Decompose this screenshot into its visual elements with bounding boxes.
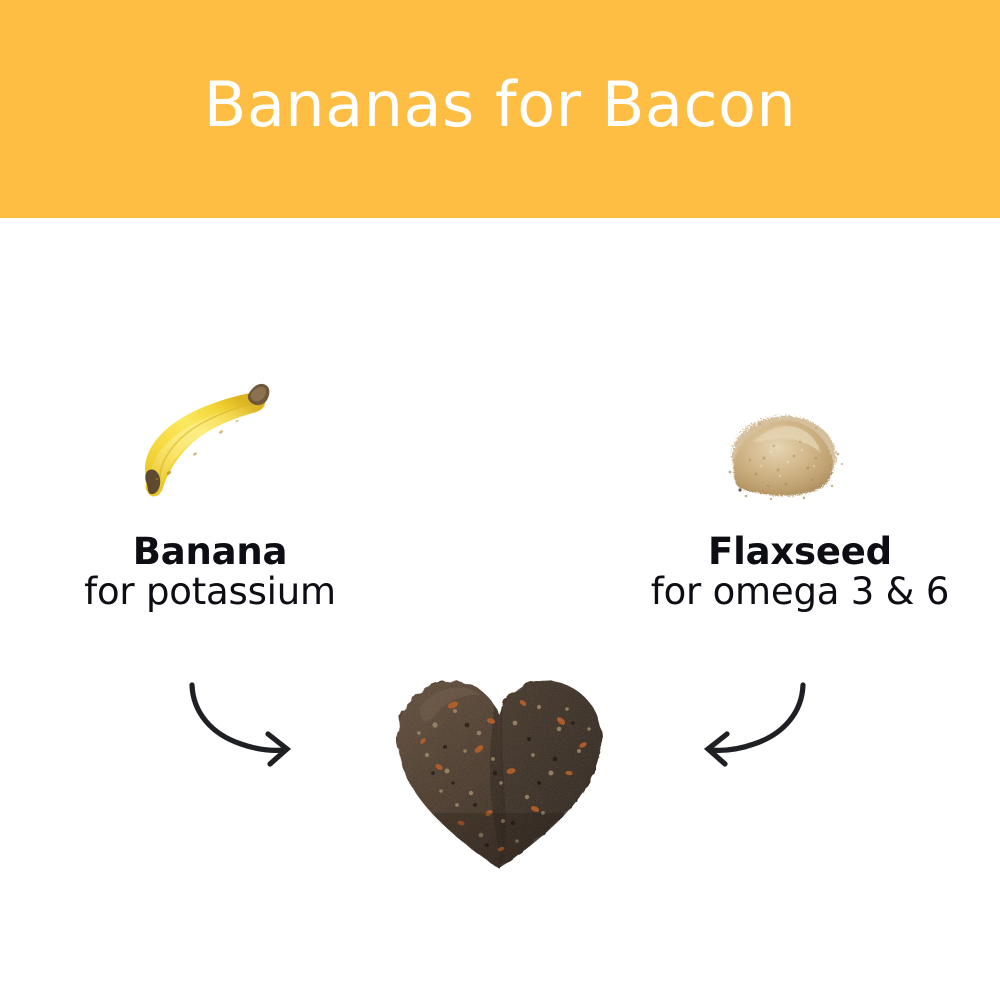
header-band: Bananas for Bacon: [0, 0, 1000, 218]
ingredient-name-banana: Banana: [0, 532, 420, 571]
ingredient-benefit-banana: for potassium: [0, 571, 420, 612]
flaxseed-icon: [716, 398, 856, 508]
heart-treat-icon: [383, 663, 615, 875]
banana-art-container: [0, 380, 420, 520]
curved-arrow-left-down-icon: [690, 668, 820, 768]
ingredient-benefit-flaxseed: for omega 3 & 6: [590, 571, 1000, 612]
ingredient-name-flaxseed: Flaxseed: [590, 532, 1000, 571]
ingredient-banana: Banana for potassium: [0, 380, 420, 613]
infographic-page: Bananas for Bacon: [0, 0, 1000, 1000]
banana-icon: [133, 380, 293, 505]
page-title: Bananas for Bacon: [204, 74, 796, 136]
flaxseed-art-container: [590, 380, 1000, 520]
curved-arrow-right-down-icon: [175, 668, 305, 768]
ingredient-flaxseed: Flaxseed for omega 3 & 6: [590, 380, 1000, 613]
